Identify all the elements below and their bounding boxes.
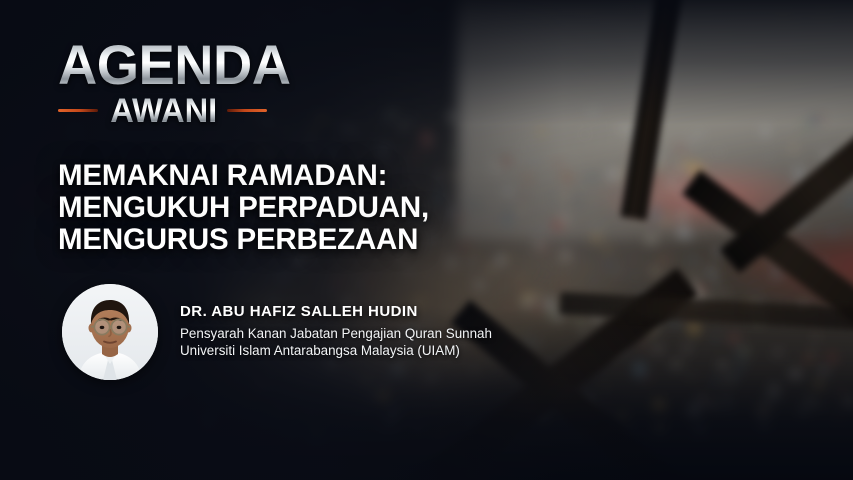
program-logo: AGENDA AWANI [58, 38, 358, 128]
speaker-title-line-1: Pensyarah Kanan Jabatan Pengajian Quran … [180, 325, 492, 342]
portrait-illustration [62, 284, 158, 380]
speaker-title-line-2: Universiti Islam Antarabangsa Malaysia (… [180, 342, 492, 359]
broadcast-title-card: AGENDA AWANI MEMAKNAI RAMADAN: MENGUKUH … [0, 0, 853, 480]
avatar-portrait [62, 284, 158, 380]
logo-agenda-text: AGENDA [58, 38, 349, 92]
headline-line-3: MENGURUS PERBEZAAN [58, 224, 578, 256]
logo-awani-row: AWANI [58, 94, 348, 128]
accent-rule-left [58, 109, 98, 112]
headline-line-2: MENGUKUH PERPADUAN, [58, 192, 578, 224]
avatar [62, 284, 158, 380]
headline-line-1: MEMAKNAI RAMADAN: [58, 160, 578, 192]
speaker-details: DR. ABU HAFIZ SALLEH HUDIN Pensyarah Kan… [180, 303, 492, 361]
speaker-block: DR. ABU HAFIZ SALLEH HUDIN Pensyarah Kan… [62, 284, 492, 380]
accent-rule-right [227, 109, 267, 112]
headline: MEMAKNAI RAMADAN: MENGUKUH PERPADUAN, ME… [58, 160, 578, 256]
logo-awani-text: AWANI [110, 94, 217, 128]
speaker-name: DR. ABU HAFIZ SALLEH HUDIN [180, 303, 492, 320]
